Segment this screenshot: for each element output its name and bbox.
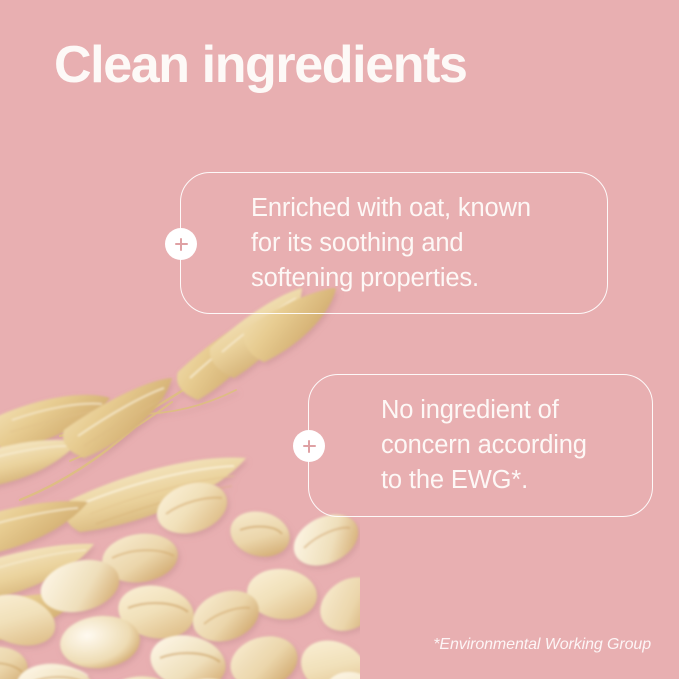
info-card-oat-text: Enriched with oat, known for its soothin… [251,191,531,296]
info-card-ewg[interactable]: No ingredient of concern according to th… [308,374,653,517]
promo-canvas: Clean ingredients [0,0,679,679]
plus-icon-vertical-bar [180,238,183,251]
plus-icon-vertical-bar [308,440,311,453]
plus-icon [165,228,197,260]
footnote: *Environmental Working Group [433,636,651,654]
plus-icon [293,430,325,462]
page-title: Clean ingredients [54,37,467,93]
info-card-ewg-text: No ingredient of concern according to th… [381,393,587,498]
oat-grains-and-stalks-photo [0,286,360,679]
info-card-oat[interactable]: Enriched with oat, known for its soothin… [180,172,608,314]
